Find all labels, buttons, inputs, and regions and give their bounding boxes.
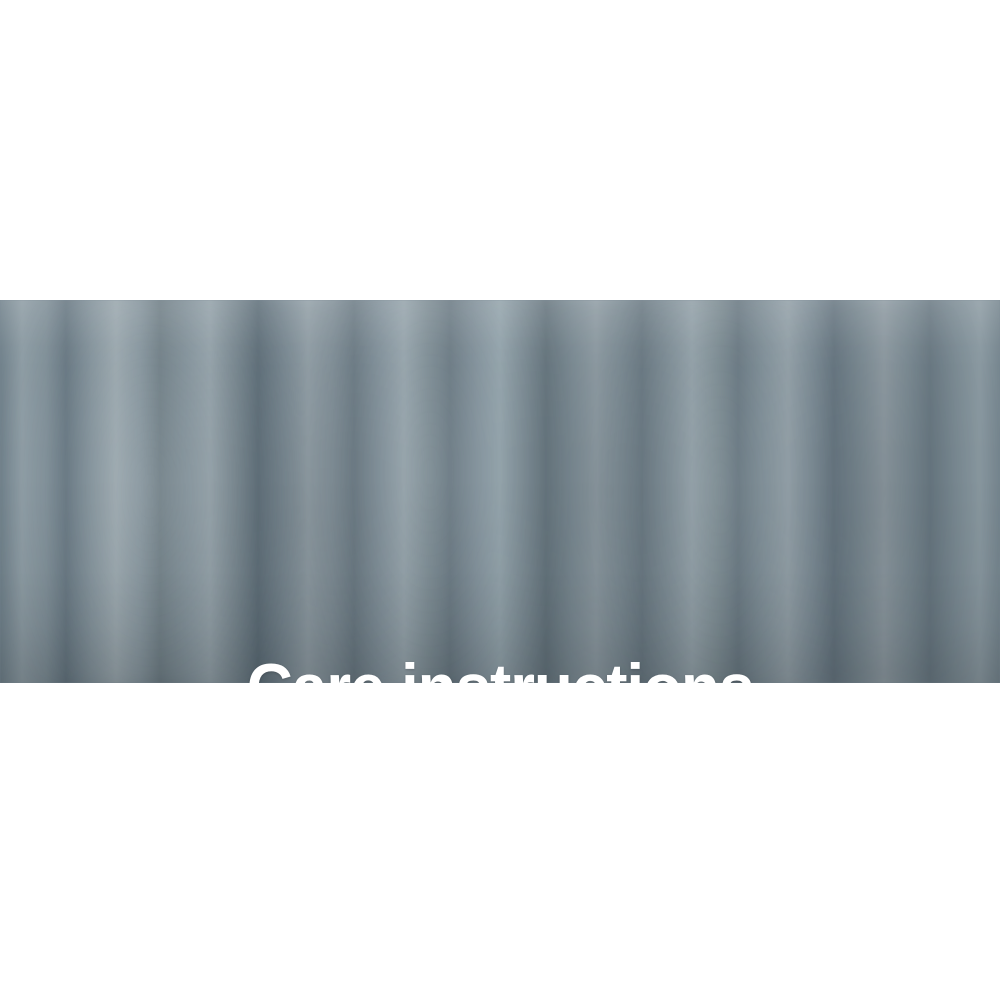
page-title: Care instructions: [30, 654, 970, 683]
care-instructions-page: Care instructions Machine washable cold: [0, 0, 1000, 1000]
banner-content: Care instructions Machine washable cold: [0, 300, 1000, 683]
care-instructions-banner: Care instructions Machine washable cold: [0, 300, 1000, 683]
